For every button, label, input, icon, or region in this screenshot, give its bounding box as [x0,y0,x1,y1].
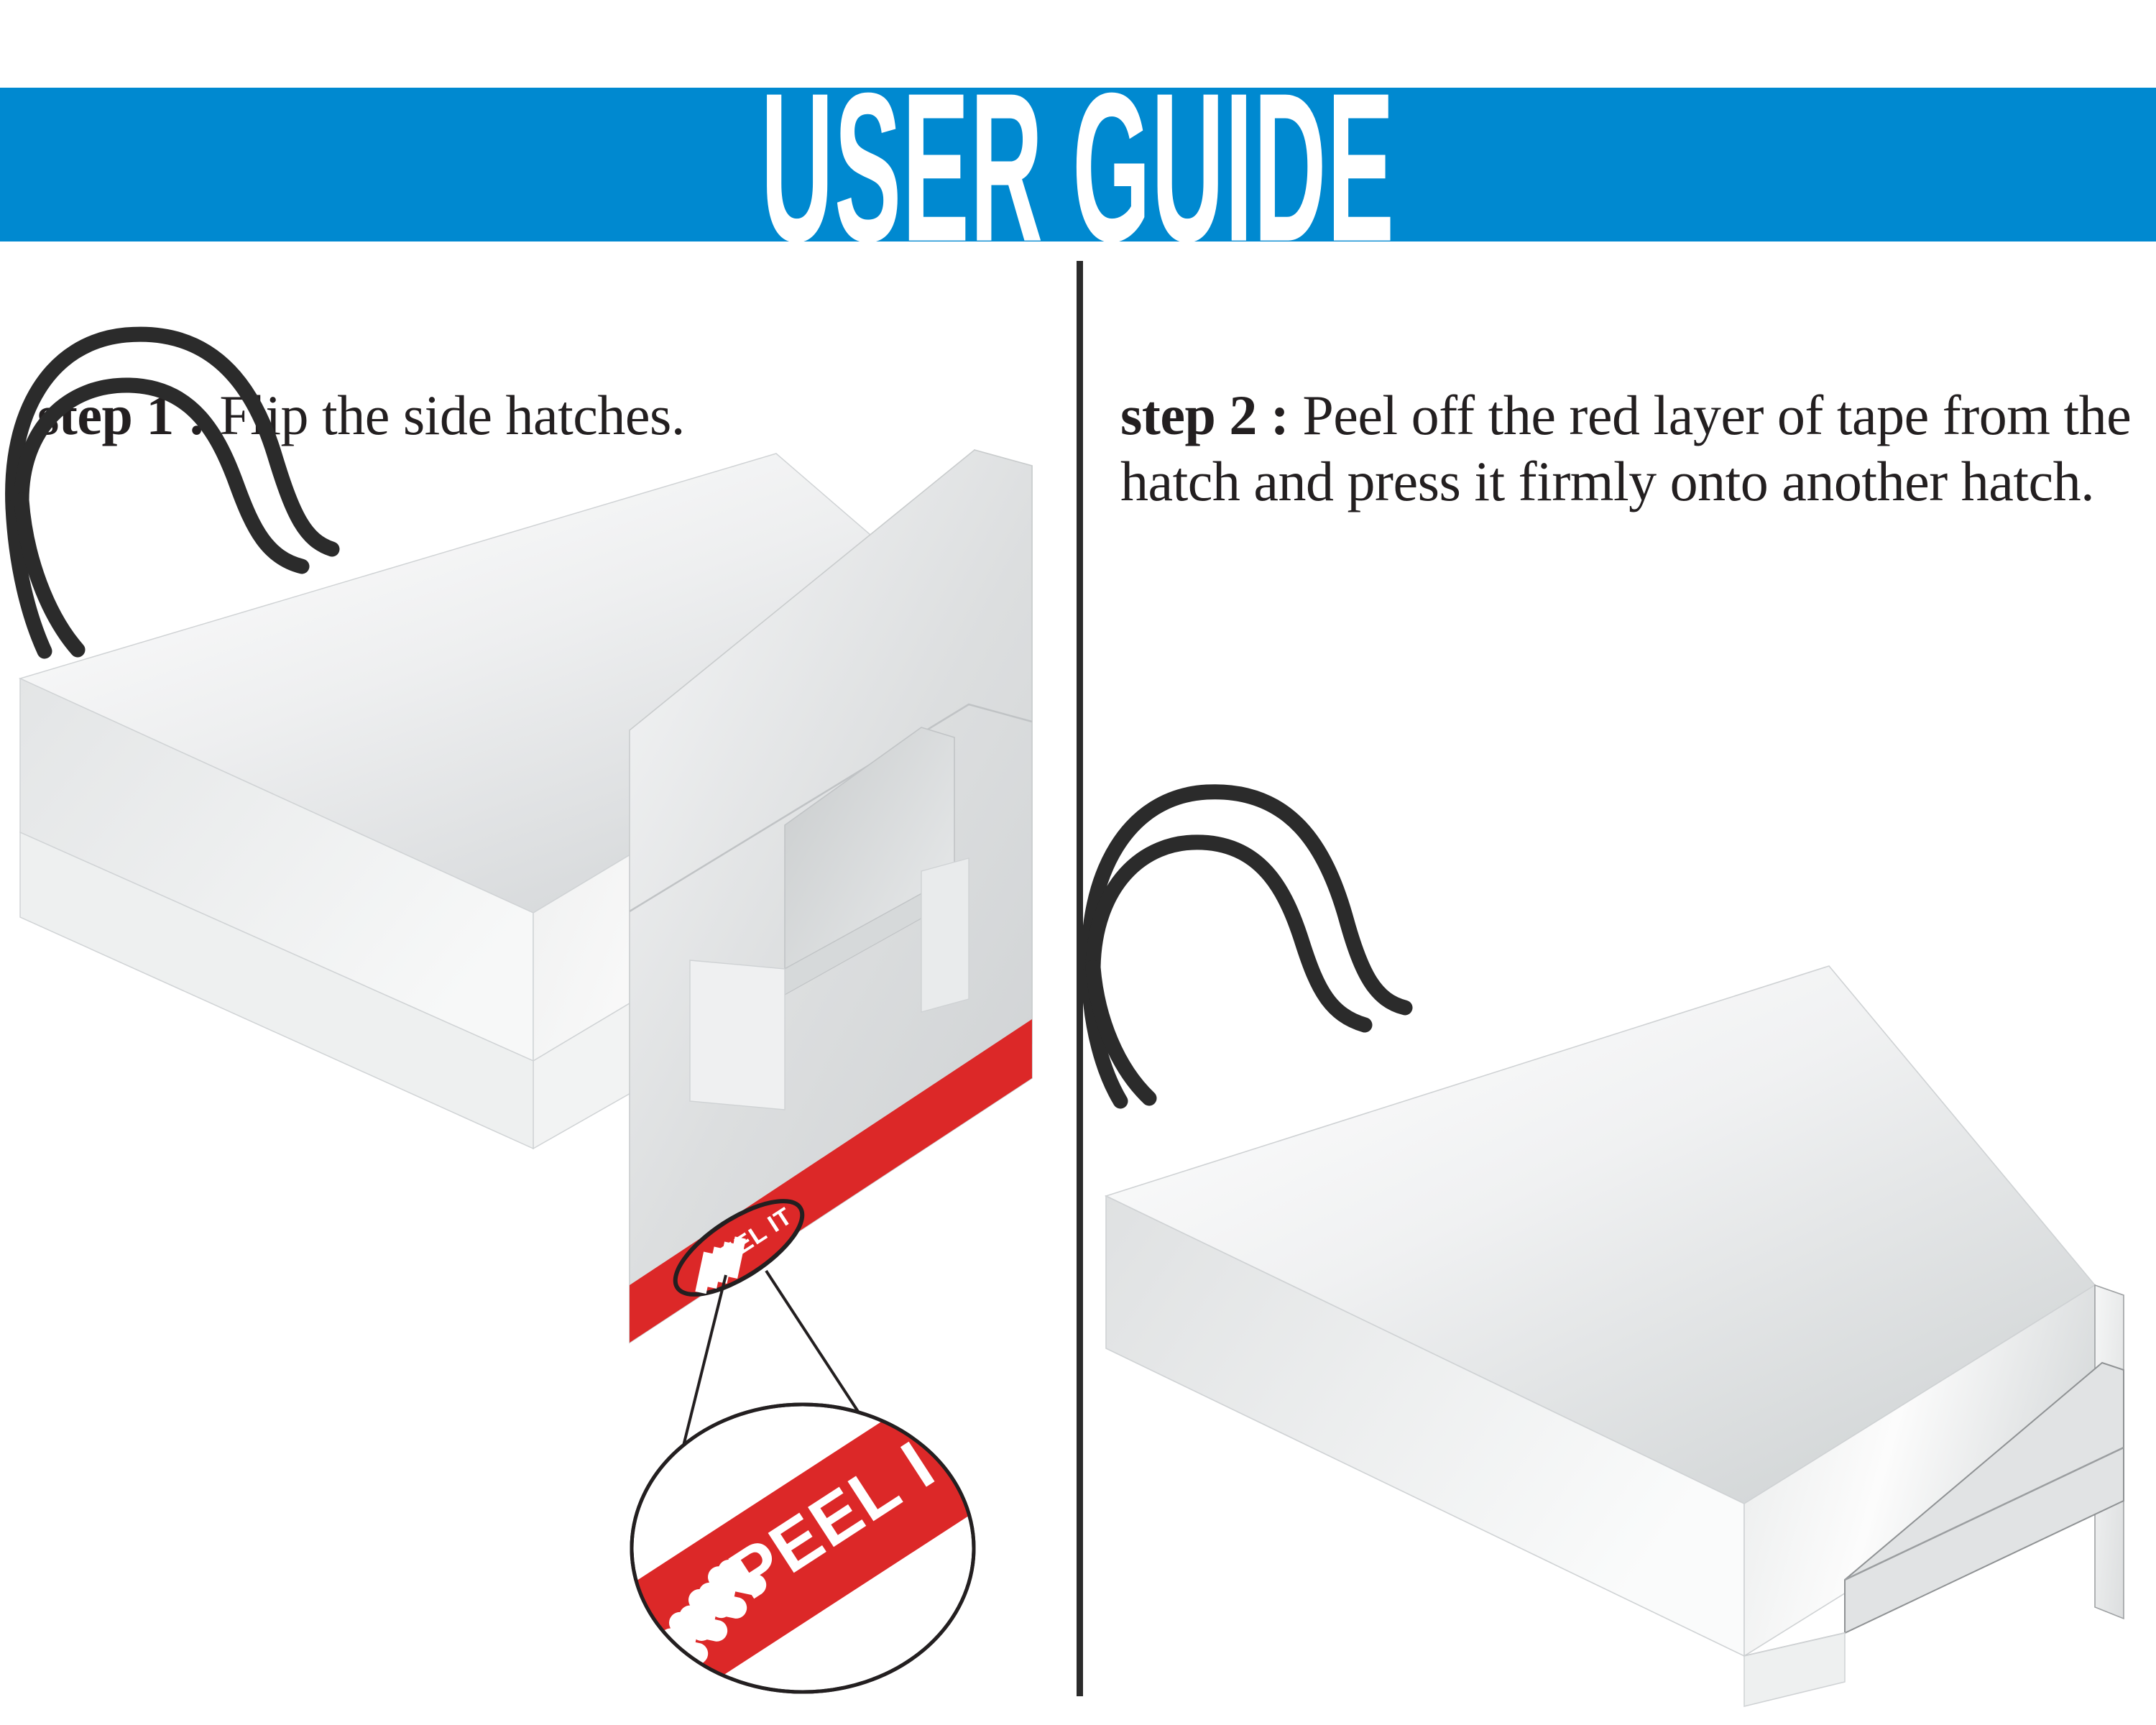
box-bottom-corner [1744,1633,1845,1706]
tape-marker-arrows [680,1228,762,1302]
header-banner: USER GUIDE [0,88,2156,241]
hatch-rear-panel [975,450,1032,1044]
handle-cord-outer [1089,792,1405,1008]
step-2-label: step 2 : [1120,384,1302,446]
box-front-lower-band [533,788,990,1149]
hatch-tab-right [921,858,969,1012]
hatch-inner-notch [785,727,954,969]
tape-marker-label: PEEL IT [701,1202,798,1278]
callout-label: PEEL IT [717,1402,985,1614]
box-bottom-edge-left [1744,1633,1845,1656]
peel-it-callout: PEEL IT [569,1366,1036,1725]
box-sealed-flap-panel [1845,1363,2124,1633]
handle-cord-tail-inner [22,500,78,650]
handle-cord-inner [1093,842,1365,1025]
callout-arrows [619,1547,788,1697]
hatch-tab-lower [690,960,785,1110]
step-1-label: step 1 : [37,384,219,446]
hatch-crease-line [630,704,1032,911]
box-left-lower-band [20,832,533,1149]
hatch-inner-notch-shade [785,875,954,995]
callout-leader-right [766,1271,885,1453]
callout-leader-lines [661,1271,885,1535]
handle-cord-tail-inner [1093,967,1149,1098]
callout-ellipse-background [632,1404,974,1692]
callout-leader-left [661,1275,726,1535]
tape-marker-ellipse [662,1184,816,1312]
panel-step-1: step 1 : Flip the side hatches. [0,241,1077,1725]
handle-cord-tail-outer [1089,975,1120,1101]
page-title: USER GUIDE [761,88,1395,241]
handle-cord-tail-outer [13,507,45,651]
peel-tape-strip [630,1019,1032,1343]
callout-ellipse-outline [632,1404,974,1692]
box-top-face [20,454,990,913]
box-side-flap [2095,1285,2124,1619]
box-flap-seam-line [1845,1448,2124,1580]
handle-cord-group [1089,792,1405,1101]
box-front-face [533,638,990,1061]
box-left-face [20,678,533,1061]
step-1-illustration: PEEL IT [0,241,1077,1725]
panel-step-2: step 2 : Peel off the red layer of tape … [1083,241,2156,1725]
panel-divider [1077,261,1083,1696]
box-left-face [1106,1196,1744,1656]
step-2-caption: step 2 : Peel off the red layer of tape … [1120,382,2148,515]
step-1-caption: step 1 : Flip the side hatches. [37,382,1015,448]
box-front-face [1744,1285,2095,1656]
step-1-text: Flip the side hatches. [219,384,685,446]
callout-red-band [569,1366,1036,1725]
peel-it-tape-marker: PEEL IT [662,1184,816,1312]
box-top-face [1106,966,2095,1504]
hatch-open-panel [630,450,1032,1343]
